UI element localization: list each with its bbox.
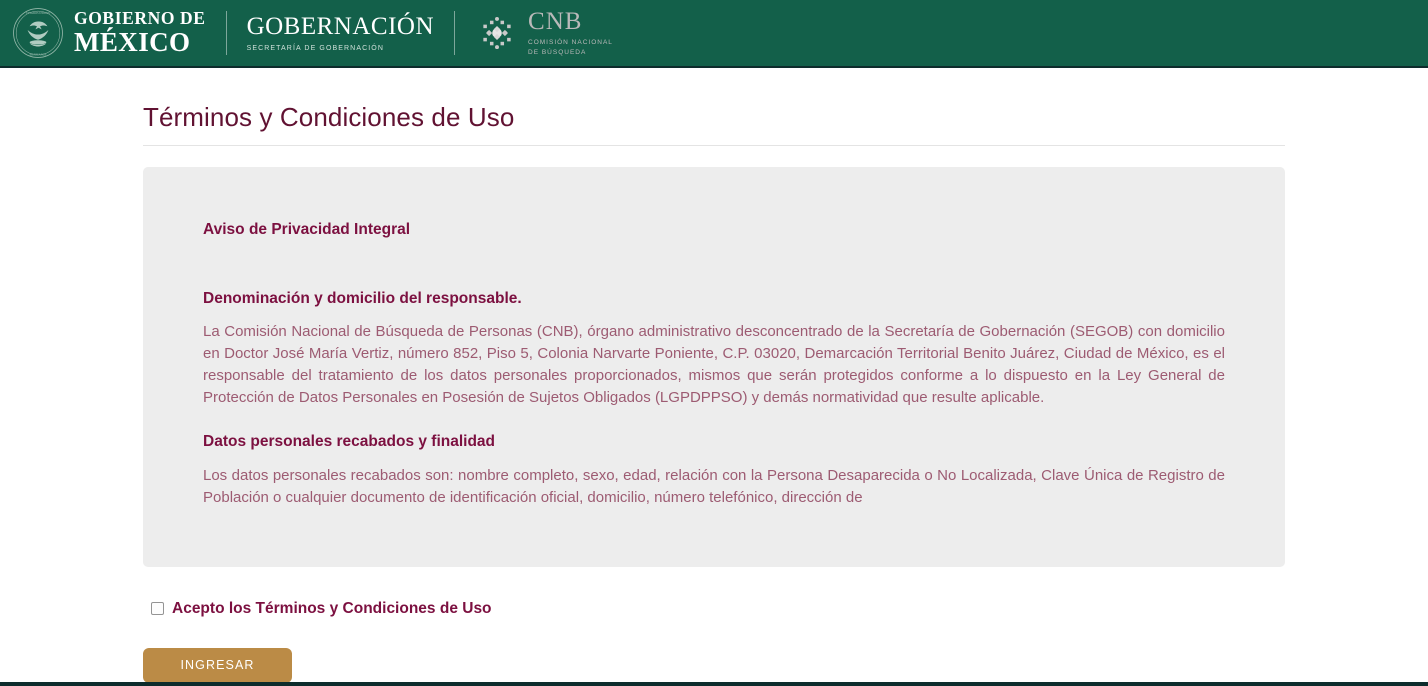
terms-section-body-0: La Comisión Nacional de Búsqueda de Pers… (203, 321, 1225, 409)
gobierno-de-mexico-brand[interactable]: ESTADOS UNIDOS MEXICANOS GOBIERNO DE MÉX… (12, 5, 206, 61)
site-header: ESTADOS UNIDOS MEXICANOS GOBIERNO DE MÉX… (0, 0, 1428, 68)
accept-terms-checkbox[interactable] (151, 602, 164, 615)
mexico-coat-of-arms-seal-icon: ESTADOS UNIDOS MEXICANOS (12, 7, 64, 59)
terms-main-heading: Aviso de Privacidad Integral (203, 219, 1225, 241)
gobierno-line-2: MÉXICO (74, 29, 206, 56)
terms-content: Aviso de Privacidad Integral Denominació… (203, 167, 1225, 509)
segob-title: GOBERNACIÓN (247, 14, 434, 40)
cnb-title: CNB (528, 9, 613, 34)
terms-section-heading-0: Denominación y domicilio del responsable… (203, 288, 1225, 310)
gobierno-wordmark: GOBIERNO DE MÉXICO (74, 10, 206, 57)
header-divider-2 (454, 11, 455, 55)
ingresar-button[interactable]: INGRESAR (143, 648, 292, 683)
cnb-search-pattern-icon (475, 11, 519, 55)
terms-section-body-1: Los datos personales recabados son: nomb… (203, 465, 1225, 509)
terms-scroll-panel[interactable]: Aviso de Privacidad Integral Denominació… (143, 167, 1285, 567)
cnb-subtitle-line-1: COMISIÓN NACIONAL (528, 39, 613, 46)
cnb-wordmark: CNB COMISIÓN NACIONAL DE BÚSQUEDA (528, 9, 613, 57)
cnb-subtitle-line-2: DE BÚSQUEDA (528, 49, 586, 56)
segob-brand[interactable]: GOBERNACIÓN SECRETARÍA DE GOBERNACIÓN (247, 14, 434, 51)
terms-section-heading-1: Datos personales recabados y finalidad (203, 431, 1225, 453)
site-footer-bar (0, 682, 1428, 686)
svg-text:ESTADOS UNIDOS: ESTADOS UNIDOS (26, 12, 50, 15)
header-divider-1 (226, 11, 227, 55)
svg-text:MEXICANOS: MEXICANOS (30, 53, 47, 56)
page-body: Términos y Condiciones de Uso Aviso de P… (0, 68, 1428, 683)
cnb-brand[interactable]: CNB COMISIÓN NACIONAL DE BÚSQUEDA (475, 9, 613, 57)
accept-terms-label[interactable]: Acepto los Términos y Condiciones de Uso (172, 601, 492, 617)
submit-row: INGRESAR (143, 648, 1285, 683)
title-divider (143, 145, 1285, 146)
gobierno-line-1: GOBIERNO DE (74, 10, 206, 28)
accept-terms-row: Acepto los Términos y Condiciones de Uso (143, 601, 1285, 617)
content-container: Términos y Condiciones de Uso Aviso de P… (143, 68, 1285, 683)
segob-subtitle: SECRETARÍA DE GOBERNACIÓN (247, 45, 434, 52)
page-title: Términos y Condiciones de Uso (143, 88, 1285, 145)
